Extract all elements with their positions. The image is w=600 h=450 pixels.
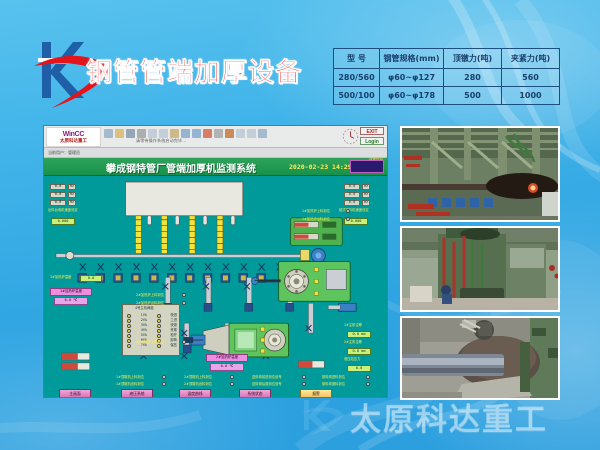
left-speed-value-2: 0.0	[50, 192, 66, 198]
new-file-icon[interactable]	[104, 129, 113, 138]
specification-table: 型 号 钢管规格(mm) 顶镦力(吨) 夹紧力(吨) 280/560 φ60~φ…	[333, 48, 560, 105]
nav-button-system-status[interactable]: 系统状态	[239, 389, 271, 398]
side-readout-value-2: 0.0	[347, 365, 371, 372]
paste-icon[interactable]	[170, 129, 179, 138]
status-led-13	[366, 382, 370, 386]
right-speed-unit-3: Hz	[362, 200, 370, 206]
nav-button-hydraulic[interactable]: 液压系统	[121, 389, 153, 398]
photo3-content	[402, 318, 560, 400]
cell-model: 280/560	[334, 69, 380, 87]
status-led-3	[182, 301, 186, 305]
redo-icon[interactable]	[192, 129, 201, 138]
wincc-logo-text: WinCC	[63, 131, 84, 138]
status-led-10	[302, 375, 306, 379]
furnace-temp-value-2: 0.0 ℃	[210, 363, 244, 371]
status-led-1	[346, 217, 350, 221]
hmi-title-bar: 攀成钢特管厂管端加厚机监测系统 2020-02-23 14:29:24 报警信息	[44, 158, 387, 176]
left-speed-unit-1: Hz	[68, 184, 76, 190]
clock-icon	[342, 128, 359, 145]
wincc-logo: WinCC 太原科达重工	[46, 127, 101, 147]
nav-button-alarm[interactable]: 报警	[300, 389, 332, 398]
nav-button-temp-curve[interactable]: 温度曲线	[179, 389, 211, 398]
help-icon[interactable]	[258, 129, 267, 138]
table-header-row: 型 号 钢管规格(mm) 顶镦力(吨) 夹紧力(吨)	[334, 49, 560, 69]
status-label-6: 1#顶镦机上料到位	[116, 376, 144, 379]
left-speed-unit-2: Hz	[68, 192, 76, 198]
undo-icon[interactable]	[181, 129, 190, 138]
save-icon[interactable]	[126, 129, 135, 138]
side-readout-value-1: 0.0 mm	[347, 348, 371, 355]
open-folder-icon[interactable]	[115, 129, 124, 138]
status-led-9	[230, 382, 234, 386]
status-label-12: 卸料臂进料到位	[322, 376, 345, 379]
cell-upsetting-force: 500	[444, 87, 502, 105]
right-panel-label: 链式输料机速度设定	[339, 209, 369, 212]
status-label-0: 1#加热炉上料到位	[302, 210, 330, 213]
hmi-toolbar: WinCC 太原科达重工 请等待操作系统启动完毕… EXIT	[44, 126, 387, 148]
cell-clamping-force: 1000	[502, 87, 560, 105]
hmi-mimic-diagram: 0.0 Hz 0.0 Hz 0.0 Hz 出料台电机速度设定 0.000 0.0…	[44, 176, 387, 398]
valve-panel-title: 4号主机阀组	[135, 307, 154, 310]
valve-code-6: 7YA	[141, 344, 147, 348]
col-pipe-size: 钢管规格(mm)	[380, 49, 444, 69]
zoom-icon[interactable]	[247, 129, 256, 138]
status-led-6	[162, 375, 166, 379]
cut-icon[interactable]	[148, 129, 157, 138]
right-speed-unit-1: Hz	[362, 184, 370, 190]
valve-panel: 4号主机阀组 1YA快进 2YA工进 3YA快退 4YA夹紧 5YA松开 6YA…	[122, 304, 180, 356]
cell-upsetting-force: 280	[444, 69, 502, 87]
status-label-9: 2#顶镦机出料到位	[184, 383, 212, 386]
furnace-temp-value-1: 0.0 ℃	[54, 297, 88, 305]
side-readout-label-2: 液压站压力	[344, 358, 360, 361]
table-row: 500/100 φ60~φ178 500 1000	[334, 87, 560, 105]
print-icon[interactable]	[137, 129, 146, 138]
valve-func-6: 保压	[170, 344, 177, 348]
run-icon[interactable]	[203, 129, 212, 138]
status-label-2: 2#加热炉上料到位	[136, 294, 164, 297]
temp-value-text: 0.0	[88, 277, 95, 281]
right-speed-value-3: 0.0	[344, 200, 360, 206]
cell-pipe-size: φ60~φ127	[380, 69, 444, 87]
furnace-temp-label-1: 1#加热炉温度	[50, 288, 92, 296]
readout-unit-text: mm	[361, 333, 365, 337]
left-line-speed-value: 0.000	[51, 218, 75, 225]
col-model: 型 号	[334, 49, 380, 69]
left-speed-value-1: 0.0	[50, 184, 66, 190]
upsetting-machine-photo	[400, 226, 560, 312]
copy-icon[interactable]	[159, 129, 168, 138]
status-led-0	[346, 209, 350, 213]
col-clamping-force: 夹紧力(吨)	[502, 49, 560, 69]
right-speed-value-1: 0.0	[344, 184, 360, 190]
status-label-7: 1#顶镦机出料到位	[116, 383, 144, 386]
right-speed-unit-2: Hz	[362, 192, 370, 198]
status-label-3: 2#加热炉出料到位	[136, 302, 164, 305]
exit-button[interactable]: EXIT	[360, 127, 384, 135]
readout-value-text: 0.0	[356, 367, 363, 371]
hmi-screenshot-window: WinCC 太原科达重工 请等待操作系统启动完毕… EXIT	[43, 125, 388, 398]
hmi-toolbar-buttons[interactable]: EXIT Login	[360, 127, 384, 147]
status-label-8: 2#顶镦机上料到位	[184, 376, 212, 379]
status-led-7	[162, 382, 166, 386]
stop-icon[interactable]	[214, 129, 223, 138]
left-panel-label: 出料台电机速度设定	[48, 209, 78, 212]
right-speed-value-2: 0.0	[344, 192, 360, 198]
status-label-1: 1#加热炉出料到位	[302, 218, 330, 221]
hmi-subbar: 当前用户：管理员	[44, 148, 387, 158]
status-led-8	[230, 375, 234, 379]
readout-value-text: 0.0	[353, 333, 360, 337]
readout-value-text: 0.0	[353, 350, 360, 354]
status-label-4: 3#加热炉上料到位	[136, 341, 164, 344]
status-led-11	[302, 382, 306, 386]
table-row: 280/560 φ60~φ127 280 560	[334, 69, 560, 87]
vendor-name-text: 太原科达重工	[60, 139, 87, 144]
status-label-11: 送料臂后退到位信号	[252, 383, 282, 386]
side-readout-label-0: 1#主机位移	[344, 324, 362, 327]
photo2-content	[402, 228, 560, 312]
furnace-temp-label-2: 2#加热炉温度	[206, 354, 248, 362]
cell-model: 500/100	[334, 87, 380, 105]
temp-unit-text: ℃	[229, 365, 233, 369]
status-led-12	[366, 375, 370, 379]
toolbar-icon-group[interactable]	[104, 129, 267, 138]
pipe-end-closeup-photo	[400, 316, 560, 400]
readout-unit-text: mm	[361, 350, 365, 354]
alarm-display-box[interactable]	[350, 160, 384, 173]
nav-button-main[interactable]: 主画面	[59, 389, 91, 398]
side-readout-value-0: 0.0 mm	[347, 331, 371, 338]
page-title: 钢管管端加厚设备	[86, 52, 302, 89]
left-speed-value-3: 0.0	[50, 200, 66, 206]
temp-value-text: 0.0	[221, 365, 228, 369]
user-icon[interactable]	[225, 129, 234, 138]
toolbar-note-text: 请等待操作系统启动完毕…	[136, 138, 186, 144]
production-line-photo	[400, 126, 560, 222]
hmi-system-title: 攀成钢特管厂管端加厚机监测系统	[106, 160, 256, 175]
cell-pipe-size: φ60~φ178	[380, 87, 444, 105]
furnace-temp-value-3: 0.0	[80, 275, 102, 282]
grid-icon[interactable]	[236, 129, 245, 138]
status-led-4	[182, 340, 186, 344]
status-label-10: 送料臂前进到位信号	[252, 376, 282, 379]
side-readout-label-1: 2#主机位移	[344, 341, 362, 344]
temp-unit-text: ℃	[73, 299, 77, 303]
photo1-content	[402, 128, 560, 222]
temp-value-text: 0.0	[65, 299, 72, 303]
login-button[interactable]: Login	[360, 137, 384, 145]
status-led-2	[182, 293, 186, 297]
furnace-temp-label-3: 3#加热炉温度	[50, 276, 71, 279]
left-speed-unit-3: Hz	[68, 200, 76, 206]
cell-clamping-force: 560	[502, 69, 560, 87]
status-label-13: 卸料臂退料到位	[322, 383, 345, 386]
col-upsetting-force: 顶镦力(吨)	[444, 49, 502, 69]
